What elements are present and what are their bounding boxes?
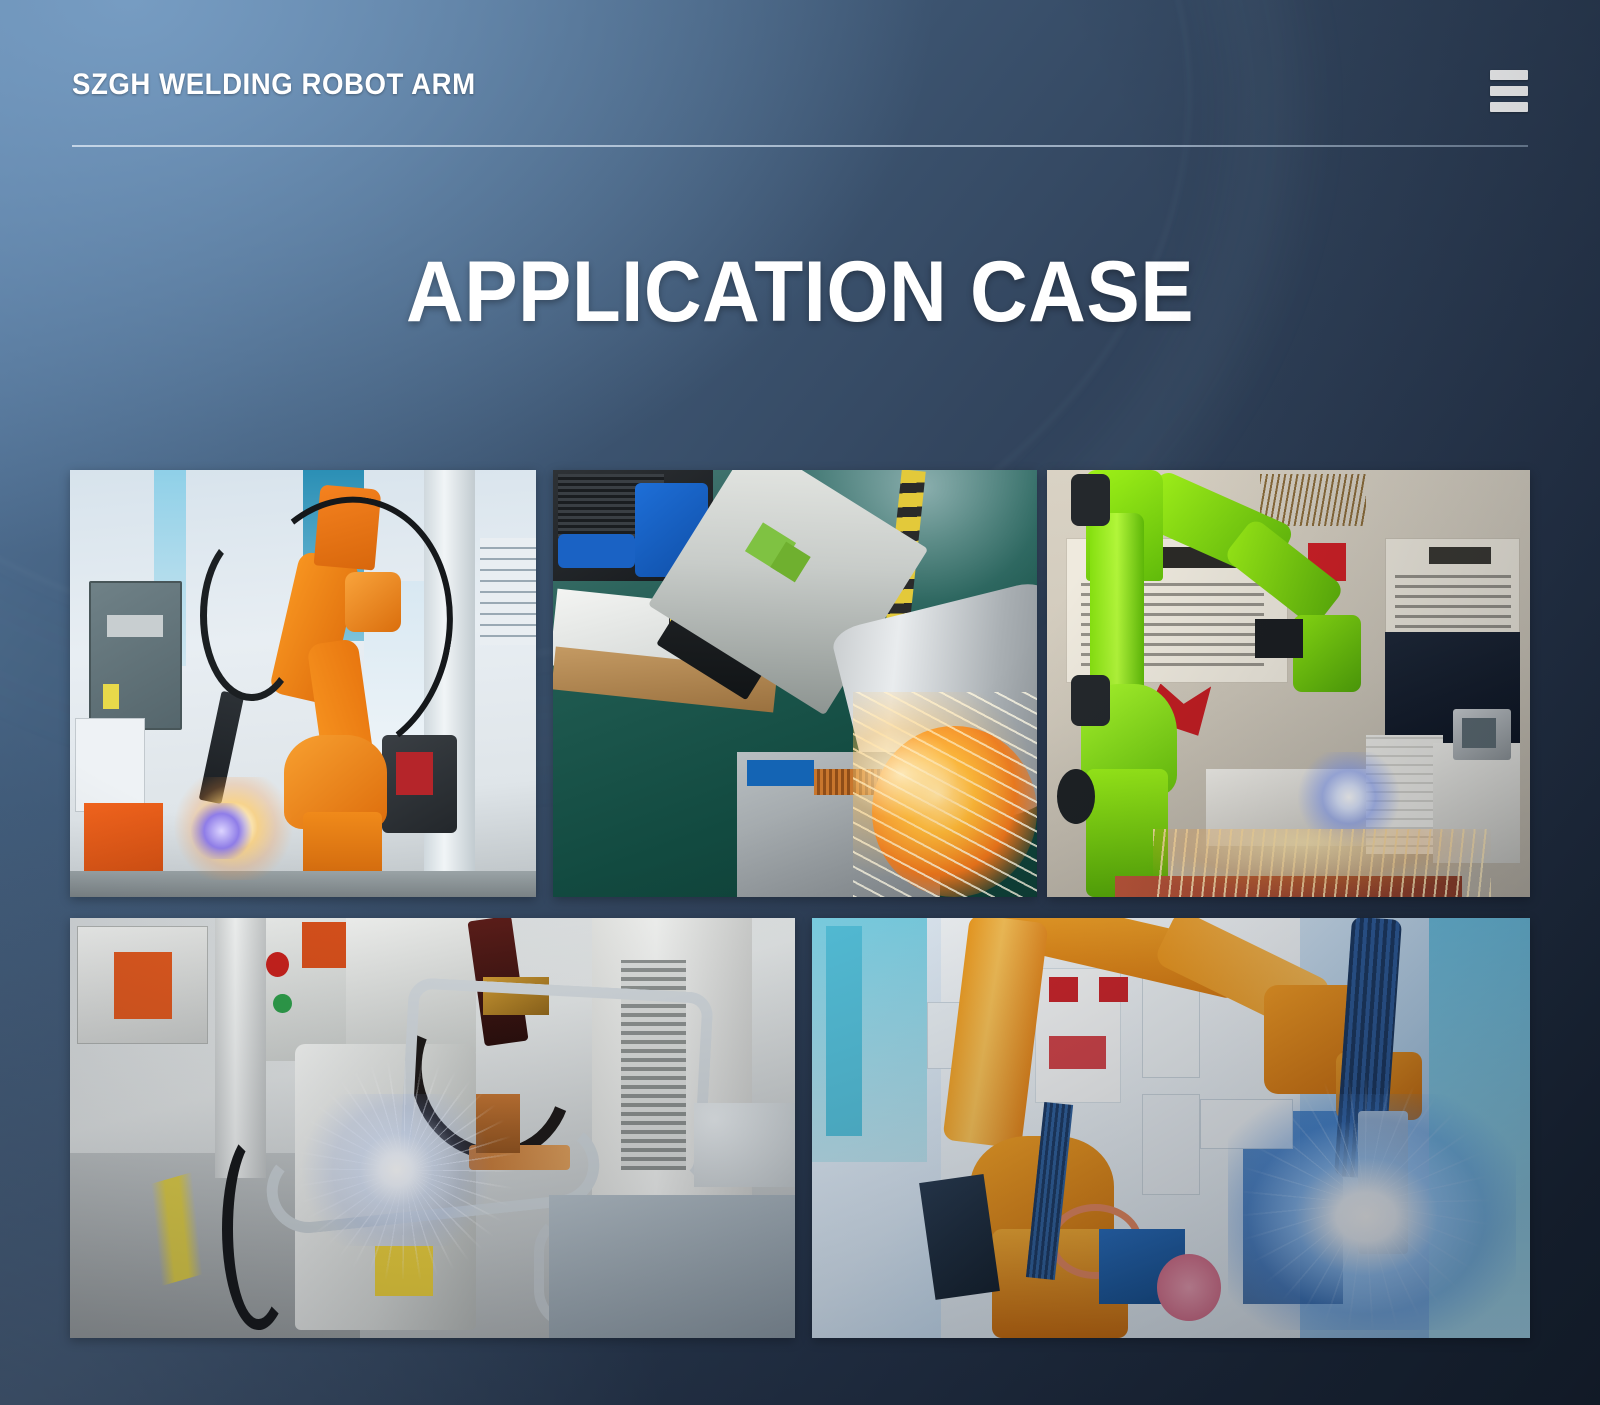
pendant-screen <box>1462 718 1496 748</box>
workshop-floor <box>70 871 536 897</box>
white-control-box <box>75 718 145 812</box>
cable-loop <box>1071 675 1110 726</box>
torch-cable <box>200 530 303 701</box>
sign-red-marker <box>1049 977 1078 1002</box>
gallery-photo-5[interactable] <box>812 918 1530 1338</box>
emergency-stop-button <box>266 952 289 977</box>
wall-posters <box>480 538 536 645</box>
weld-flash <box>288 1094 506 1245</box>
robot-wrist <box>1293 615 1361 692</box>
photo-1-content <box>70 470 536 897</box>
photo-4-content <box>70 918 795 1338</box>
brand-title: SZGH WELDING ROBOT ARM <box>72 68 476 102</box>
sign-red-marker <box>1099 977 1128 1002</box>
table-fixture <box>694 1103 796 1187</box>
cable-loop <box>1071 474 1110 525</box>
blue-hose <box>558 534 635 568</box>
slide-background: SZGH WELDING ROBOT ARM APPLICATION CASE <box>0 0 1600 1405</box>
warning-label <box>103 684 119 710</box>
welding-table <box>549 1195 796 1338</box>
hamburger-bar-3 <box>1490 102 1528 112</box>
signboard-heading <box>1429 547 1492 564</box>
spark-spray <box>1153 829 1491 897</box>
gallery-photo-1[interactable] <box>70 470 536 897</box>
window-mullion <box>826 926 862 1136</box>
wall-document <box>1142 977 1199 1078</box>
jig-label <box>747 760 815 786</box>
wall-document <box>1142 1094 1199 1195</box>
photo-3-content <box>1047 470 1530 897</box>
welder-front-panel <box>114 952 172 1019</box>
green-start-button <box>273 994 292 1013</box>
header-divider <box>72 145 1528 147</box>
overhead-wiring <box>1260 474 1366 525</box>
hamburger-bar-2 <box>1490 86 1528 96</box>
photo-2-content <box>553 470 1037 897</box>
hamburger-bar-1 <box>1490 70 1528 80</box>
cabinet-detail <box>107 615 163 636</box>
torch-holder <box>1255 619 1303 657</box>
machine-detail <box>396 752 433 795</box>
gallery-photo-4[interactable] <box>70 918 795 1338</box>
welding-arc-light <box>1228 1094 1515 1329</box>
page-header: SZGH WELDING ROBOT ARM <box>0 0 1600 150</box>
application-case-gallery <box>0 0 1600 1405</box>
gallery-photo-2[interactable] <box>553 470 1037 897</box>
signboard-text <box>1395 568 1511 628</box>
gallery-photo-3[interactable] <box>1047 470 1530 897</box>
sign-red-text <box>1049 1036 1106 1070</box>
spark-spray <box>853 692 1037 897</box>
page-title: APPLICATION CASE <box>56 243 1544 342</box>
weld-arc-glow <box>191 803 252 859</box>
photo-5-content <box>812 918 1530 1338</box>
hamburger-menu-icon[interactable] <box>1490 70 1530 112</box>
